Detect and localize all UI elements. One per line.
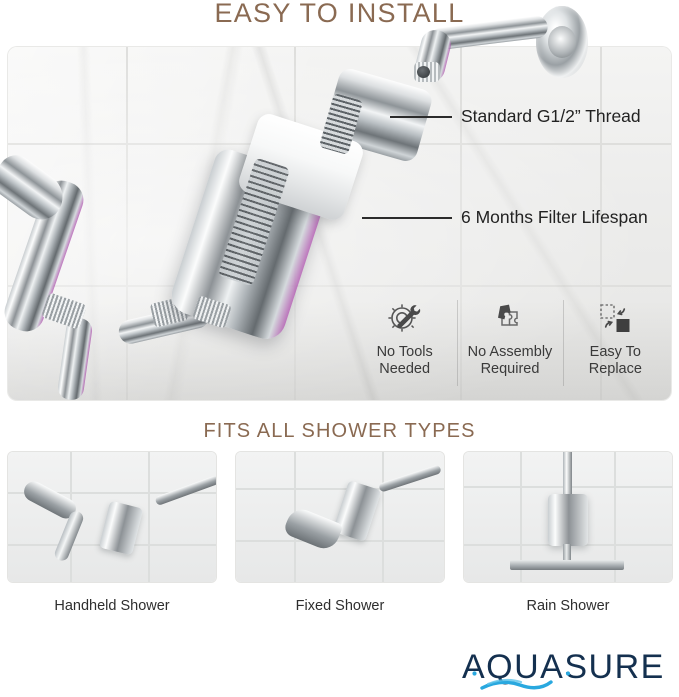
callout-leader-line	[362, 217, 452, 219]
svg-text:AQUASURE: AQUASURE	[462, 648, 665, 686]
shower-type-thumbnails	[0, 452, 679, 584]
tile-grout-line	[382, 452, 384, 582]
callout-label: Standard G1/2” Thread	[461, 106, 641, 127]
handheld-wand	[53, 509, 85, 562]
feature-label: No Assembly Required	[468, 344, 553, 378]
tile-grout-line	[236, 540, 444, 542]
feature-no-tools: No Tools Needed	[352, 296, 457, 392]
callout-standard-thread: Standard G1/2” Thread	[390, 106, 641, 127]
thumbnail-caption: Rain Shower	[464, 598, 672, 614]
filter-cartridge	[99, 501, 144, 556]
thumbnail-caption: Fixed Shower	[236, 598, 444, 614]
shower-arm-wall-flange	[536, 6, 588, 78]
shower-arm	[154, 475, 216, 506]
fixed-shower-head	[282, 505, 343, 553]
ceiling-drop-pipe	[563, 452, 572, 496]
product-infographic: EASY TO INSTALL Standard G1/2” Thread 6 …	[0, 0, 679, 693]
swap-replace-icon	[595, 296, 635, 340]
callout-leader-line	[390, 116, 452, 118]
page-title-shower-types: FITS ALL SHOWER TYPES	[0, 420, 679, 443]
wrench-gear-icon	[385, 296, 425, 340]
feature-no-assembly: No Assembly Required	[457, 296, 562, 392]
feature-easy-replace: Easy To Replace	[563, 296, 668, 392]
callout-filter-lifespan: 6 Months Filter Lifespan	[362, 207, 648, 228]
thumbnail-rain-shower[interactable]	[464, 452, 672, 582]
aquasure-logo: AQUASURE	[462, 648, 674, 692]
thumbnail-fixed-shower[interactable]	[236, 452, 444, 582]
filter-cartridge	[548, 494, 588, 546]
callout-label: 6 Months Filter Lifespan	[461, 207, 648, 228]
puzzle-piece-icon	[490, 296, 530, 340]
thumbnail-caption: Handheld Shower	[8, 598, 216, 614]
tile-grout-line	[236, 488, 444, 490]
thumbnail-handheld-shower[interactable]	[8, 452, 216, 582]
feature-label: Easy To Replace	[589, 344, 642, 378]
feature-label: No Tools Needed	[377, 344, 433, 378]
rain-shower-head	[510, 560, 624, 570]
tile-grout-line	[148, 452, 150, 582]
shower-arm-threaded-tip	[414, 62, 440, 82]
feature-benefits-row: No Tools Needed No Assembly Required	[352, 296, 668, 392]
